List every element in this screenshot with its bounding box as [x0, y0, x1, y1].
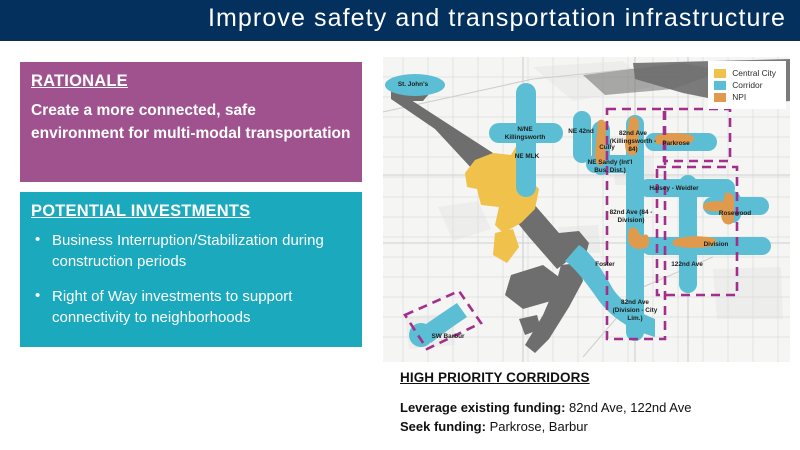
- map-label: Cully: [599, 144, 615, 151]
- legend-label-corridor: Corridor: [732, 80, 762, 90]
- map-label: SW Barbur: [431, 333, 465, 340]
- map-label: Halsey - Weidler: [649, 185, 699, 192]
- corridor-map: St. John'sN/NEKillingsworthNE MLKNE 42nd…: [383, 57, 790, 362]
- high-priority-corridors-heading: HIGH PRIORITY CORRIDORS: [400, 370, 590, 385]
- map-legend: Central City Corridor NPI: [708, 61, 786, 109]
- legend-swatch-npi: [714, 93, 726, 102]
- bullet-icon: •: [35, 285, 40, 306]
- corridor-line: Seek funding: Parkrose, Barbur: [400, 417, 790, 436]
- page-title: Improve safety and transportation infras…: [208, 4, 786, 33]
- investments-heading: POTENTIAL INVESTMENTS: [31, 202, 250, 221]
- map-label: 82nd Ave: [621, 299, 649, 306]
- legend-label-npi: NPI: [732, 92, 746, 102]
- list-item-label: Business Interruption/Stabilization duri…: [52, 232, 324, 270]
- map-label: 82nd Ave (84 -: [610, 209, 653, 216]
- corridor-line: Leverage existing funding: 82nd Ave, 122…: [400, 398, 790, 417]
- list-item-label: Right of Way investments to support conn…: [52, 288, 292, 326]
- map-label: Foster: [595, 261, 615, 268]
- legend-item-corridor: Corridor: [714, 80, 776, 90]
- rationale-heading: RATIONALE: [31, 72, 128, 91]
- legend-swatch-central-city: [714, 69, 726, 78]
- rationale-body-text: Create a more connected, safe environmen…: [31, 99, 351, 145]
- map-label: N/NE: [517, 126, 533, 133]
- map-label: Division: [704, 241, 729, 248]
- map-label: NE Sandy (Int'l: [588, 159, 633, 166]
- investments-list: • Business Interruption/Stabilization du…: [31, 230, 356, 342]
- list-item: • Business Interruption/Stabilization du…: [31, 230, 356, 272]
- map-label: 122nd Ave: [671, 261, 703, 268]
- map-label: NE MLK: [515, 153, 540, 160]
- header-bar: Improve safety and transportation infras…: [0, 0, 800, 41]
- map-label: 84): [628, 146, 637, 153]
- map-label: Lim.): [627, 315, 642, 322]
- rationale-panel: RATIONALE Create a more connected, safe …: [20, 62, 362, 182]
- legend-swatch-corridor: [714, 81, 726, 90]
- map-label: 82nd Ave: [619, 130, 647, 137]
- legend-item-central-city: Central City: [714, 68, 776, 78]
- map-label: NE 42nd: [568, 128, 594, 135]
- corridor-line-value: 82nd Ave, 122nd Ave: [565, 400, 691, 415]
- corridor-line-value: Parkrose, Barbur: [486, 419, 588, 434]
- corridor-line-label: Leverage existing funding:: [400, 400, 565, 415]
- corridor-line-label: Seek funding:: [400, 419, 486, 434]
- high-priority-corridors-lines: Leverage existing funding: 82nd Ave, 122…: [400, 398, 790, 436]
- legend-item-npi: NPI: [714, 92, 776, 102]
- bullet-icon: •: [35, 229, 40, 250]
- map-label: (Division - City: [613, 307, 658, 314]
- map-label: Parkrose: [662, 140, 690, 147]
- map-label: St. John's: [398, 81, 429, 88]
- map-label: (Killingsworth -: [610, 138, 657, 145]
- legend-label-central-city: Central City: [732, 68, 776, 78]
- map-label: Rosewood: [719, 210, 751, 217]
- map-label: Bus. Dist.): [594, 167, 626, 174]
- list-item: • Right of Way investments to support co…: [31, 286, 356, 328]
- potential-investments-panel: POTENTIAL INVESTMENTS • Business Interru…: [20, 192, 362, 347]
- map-label: Division): [618, 217, 645, 224]
- map-label: Killingsworth: [505, 134, 546, 141]
